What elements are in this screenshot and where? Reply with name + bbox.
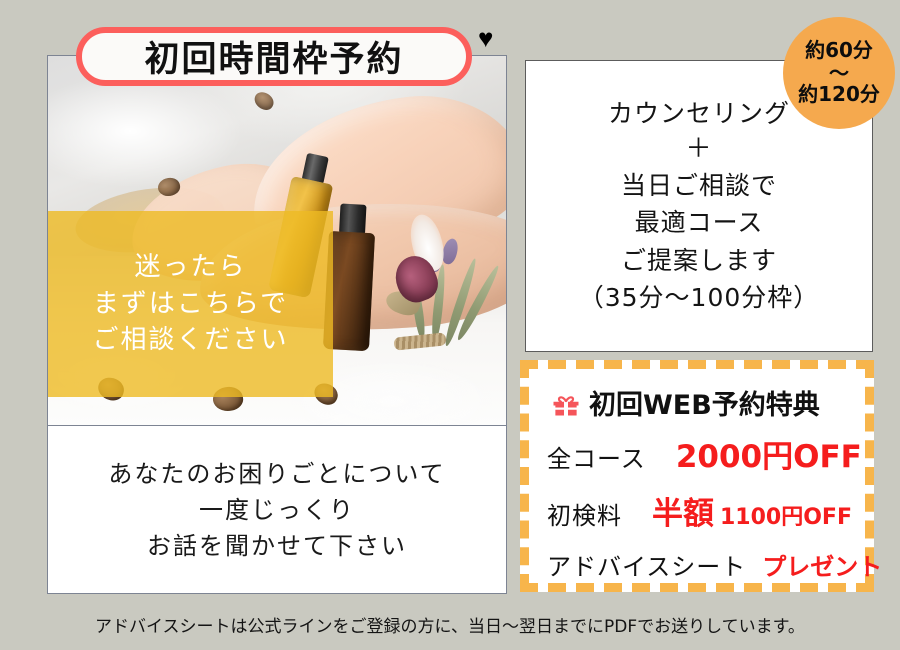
- offer-row-label: 初検料: [547, 496, 622, 531]
- photo-bouquet: [378, 160, 488, 360]
- right-line-5: ご提案します: [621, 242, 777, 280]
- offer-heading-row: 初回WEB予約特典: [551, 383, 849, 422]
- right-line-3: 当日ご相談で: [621, 167, 777, 205]
- duration-badge-line-2: 〜: [829, 63, 849, 83]
- offer-row-label: アドバイスシート: [547, 547, 746, 582]
- offer-row-value: プレゼント: [762, 547, 882, 582]
- overlay-line-3: ご相談ください: [92, 322, 288, 359]
- offer-row: 初検料 半額 1100円OFF: [547, 488, 849, 533]
- footer-note: アドバイスシートは公式ラインをご登録の方に、当日〜翌日までにPDFでお送りしてい…: [0, 612, 900, 637]
- right-line-4: 最適コース: [635, 204, 764, 242]
- photo-twine: [393, 332, 446, 350]
- offer-row: アドバイスシート プレゼント: [547, 547, 849, 582]
- title-badge-label: 初回時間枠予約: [144, 31, 403, 82]
- message-line-3: お話を聞かせて下さい: [147, 528, 407, 564]
- offer-heading-label: 初回WEB予約特典: [589, 383, 820, 422]
- offer-box: 初回WEB予約特典 全コース 2000円OFF 初検料 半額 1100円OFF …: [520, 360, 874, 592]
- photo-overlay-banner: 迷ったら まずはこちらで ご相談ください: [48, 211, 333, 397]
- duration-badge: 約60分 〜 約120分: [783, 17, 895, 129]
- message-line-1: あなたのお困りごとについて: [108, 456, 445, 492]
- overlay-line-1: 迷ったら: [134, 249, 246, 286]
- left-message-card: あなたのお困りごとについて 一度じっくり お話を聞かせて下さい: [47, 425, 507, 594]
- offer-row-label: 全コース: [547, 439, 646, 474]
- message-line-2: 一度じっくり: [199, 492, 355, 528]
- title-badge: 初回時間枠予約: [76, 27, 472, 86]
- right-line-6: （35分〜100分枠）: [579, 279, 820, 317]
- duration-badge-line-1: 約60分: [805, 39, 873, 63]
- overlay-line-2: まずはこちらで: [93, 286, 288, 323]
- heart-icon: ♥: [478, 25, 493, 51]
- duration-badge-line-3: 約120分: [798, 83, 880, 107]
- offer-row: 全コース 2000円OFF: [547, 431, 849, 476]
- offer-row-subvalue: 1100円OFF: [720, 499, 852, 531]
- offer-row-value: 半額: [652, 488, 714, 533]
- photo-card: 迷ったら まずはこちらで ご相談ください: [47, 55, 507, 427]
- gift-icon: [551, 388, 581, 418]
- right-line-1: カウンセリング: [608, 95, 790, 133]
- photo-bottle-cap: [339, 204, 367, 235]
- poster-root: 迷ったら まずはこちらで ご相談ください あなたのお困りごとについて 一度じっく…: [0, 0, 900, 650]
- right-line-2: ＋: [685, 133, 712, 167]
- offer-row-value: 2000円OFF: [676, 431, 862, 476]
